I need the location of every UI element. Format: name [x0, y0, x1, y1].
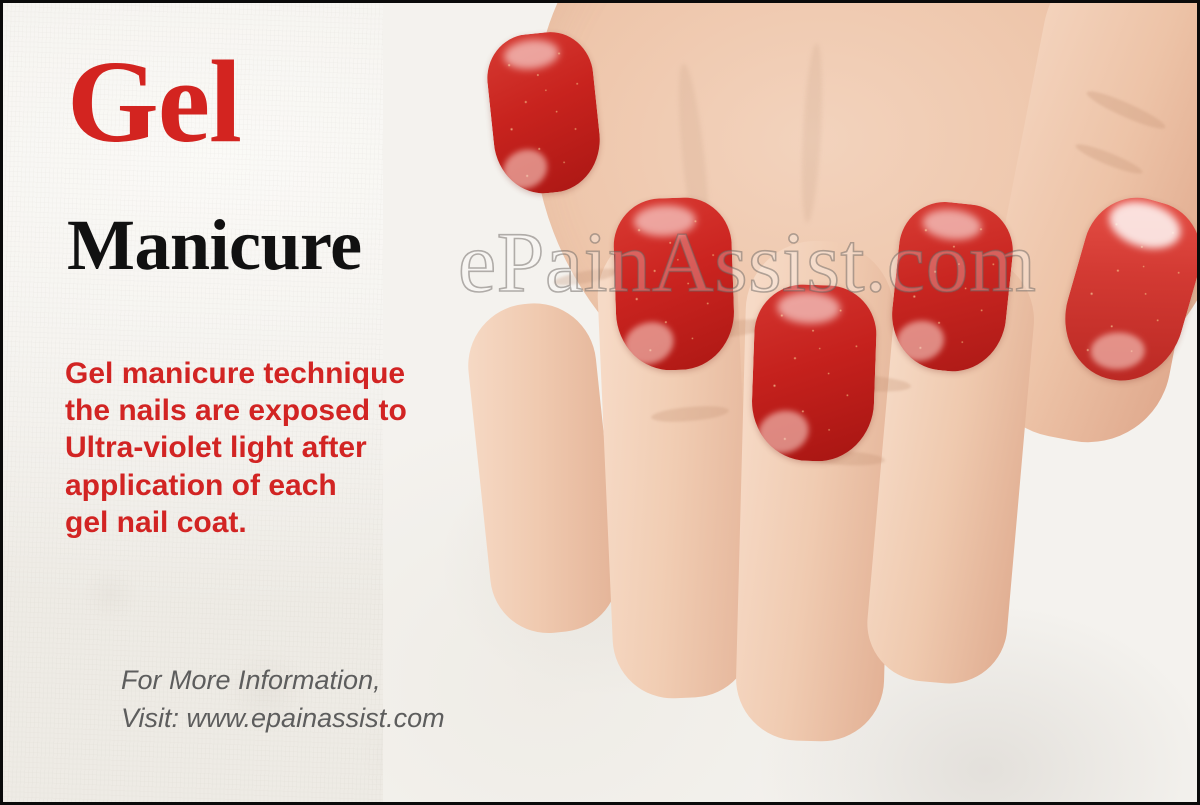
footer-line: For More Information,	[121, 661, 445, 699]
footer-line: Visit: www.epainassist.com	[121, 699, 445, 737]
middle-finger-nail	[612, 196, 736, 372]
poster-canvas: Gel Manicure Gel manicure technique the …	[0, 0, 1200, 805]
body-copy: Gel manicure technique the nails are exp…	[65, 355, 465, 541]
body-line: application of each	[65, 467, 465, 504]
body-line: gel nail coat.	[65, 504, 465, 541]
hand-photograph	[383, 3, 1197, 802]
footer-info: For More Information, Visit: www.epainas…	[121, 661, 445, 738]
page-title-manicure: Manicure	[67, 209, 362, 281]
body-line: Gel manicure technique	[65, 355, 465, 392]
index-finger-nail	[483, 28, 605, 198]
body-line: Ultra-violet light after	[65, 429, 465, 466]
body-line: the nails are exposed to	[65, 392, 465, 429]
page-title-gel: Gel	[67, 45, 241, 158]
ring-finger-nail	[750, 283, 878, 463]
text-panel: Gel Manicure Gel manicure technique the …	[3, 3, 473, 802]
pinky-finger-nail	[887, 198, 1018, 377]
poster-frame: Gel Manicure Gel manicure technique the …	[3, 3, 1197, 802]
